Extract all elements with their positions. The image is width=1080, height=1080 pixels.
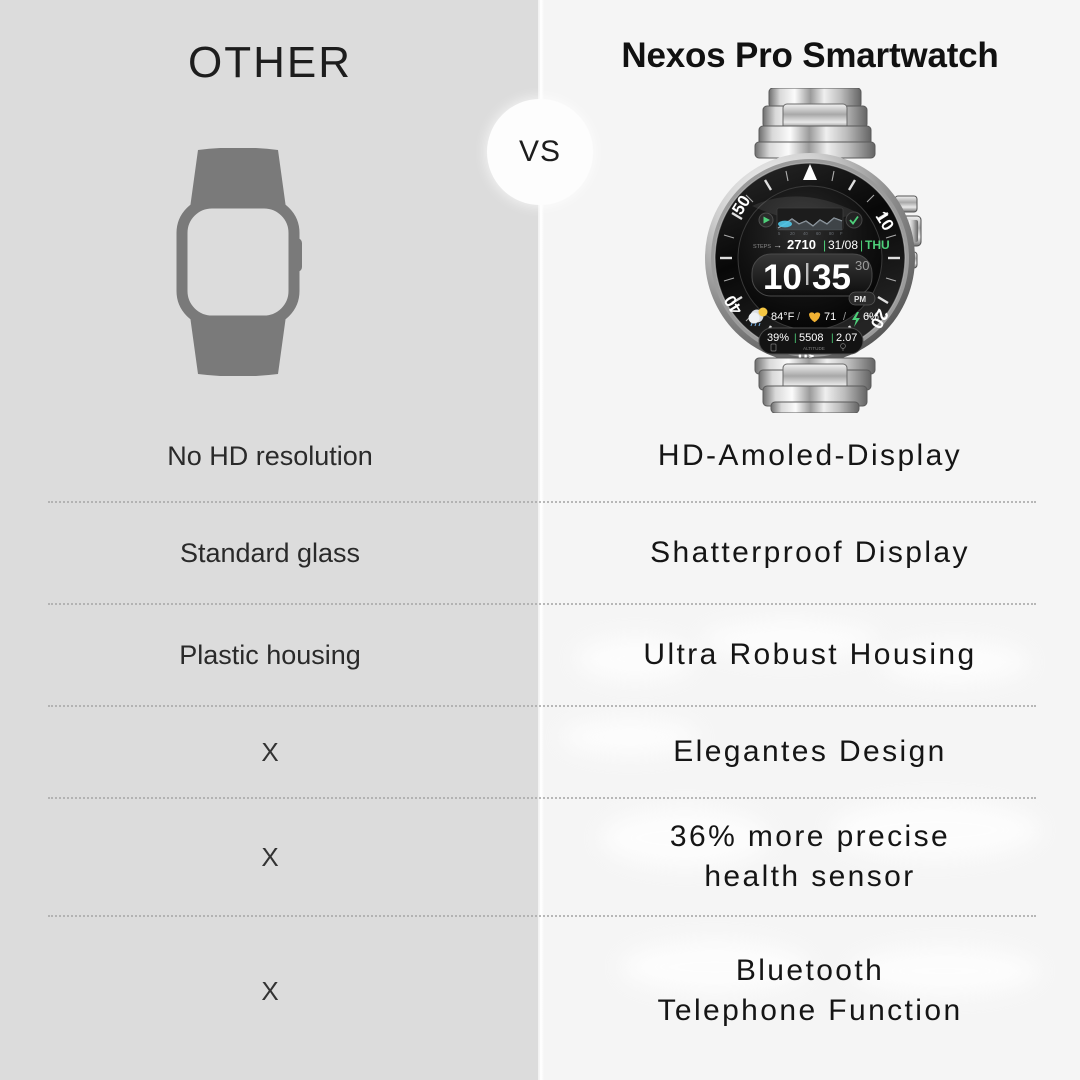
svg-text:60: 60	[816, 231, 821, 236]
svg-text:|: |	[860, 238, 863, 252]
table-row: X 36% more precise health sensor	[0, 798, 1080, 916]
distance-value: 2.07	[836, 332, 857, 344]
svg-text:40: 40	[803, 231, 808, 236]
generic-watch-icon	[160, 148, 320, 376]
row-0-other: No HD resolution	[0, 441, 540, 472]
row-2-nexos: Ultra Robust Housing	[540, 635, 1080, 675]
row-5-line-2: Telephone Function	[657, 994, 962, 1027]
row-3-other: X	[0, 737, 540, 768]
page-title-other: OTHER	[0, 38, 540, 88]
svg-text:84°F: 84°F	[771, 311, 795, 323]
altitude-label: ALTITUDE	[803, 346, 825, 351]
altitude-value: 5508	[799, 332, 823, 344]
row-5-nexos: Bluetooth Telephone Function	[540, 951, 1080, 1030]
row-4-nexos: 36% more precise health sensor	[540, 817, 1080, 896]
svg-text:|: |	[794, 333, 797, 344]
humidity-value: 39%	[767, 332, 789, 344]
svg-text:2710: 2710	[787, 237, 816, 252]
svg-text:PM: PM	[854, 295, 866, 304]
svg-text:20: 20	[790, 231, 795, 236]
generic-smartwatch-silhouette	[160, 148, 320, 376]
nexos-watch-illustration: 50 10 20 30 40	[697, 88, 933, 413]
svg-text:6%: 6%	[863, 311, 879, 323]
watch-seconds: 30	[855, 258, 869, 273]
nexos-pro-watch-image: 50 10 20 30 40	[697, 88, 933, 413]
check-circle-icon	[846, 212, 862, 228]
watch-minutes: 35	[812, 258, 851, 297]
row-2-other: Plastic housing	[0, 640, 540, 671]
row-0-nexos: HD-Amoled-Display	[540, 436, 1080, 476]
row-4-line-2: health sensor	[704, 860, 915, 893]
svg-text:31/08: 31/08	[828, 238, 858, 252]
row-5-line-1: Bluetooth	[736, 954, 884, 987]
row-3-nexos: Elegantes Design	[540, 732, 1080, 772]
table-row: X Elegantes Design	[0, 706, 1080, 798]
svg-text:THU: THU	[865, 238, 890, 252]
table-row: Standard glass Shatterproof Display	[0, 502, 1080, 604]
vs-label: VS	[519, 135, 561, 169]
svg-text:80: 80	[829, 231, 834, 236]
table-row: Plastic housing Ultra Robust Housing	[0, 604, 1080, 706]
row-4-line-1: 36% more precise	[670, 820, 950, 853]
row-4-other: X	[0, 842, 540, 873]
comparison-infographic: OTHER Nexos Pro Smartwatch VS	[0, 0, 1080, 1080]
svg-text:STEPS: STEPS	[753, 244, 771, 250]
row-1-nexos: Shatterproof Display	[540, 533, 1080, 573]
svg-text:71: 71	[824, 311, 836, 323]
row-5-other: X	[0, 976, 540, 1007]
svg-text:F: F	[840, 231, 843, 236]
table-row: X Bluetooth Telephone Function	[0, 916, 1080, 1066]
svg-text:|: |	[823, 238, 826, 252]
comparison-table: No HD resolution HD-Amoled-Display Stand…	[0, 410, 1080, 1080]
page-title-nexos: Nexos Pro Smartwatch	[540, 36, 1080, 76]
svg-text:→: →	[773, 240, 782, 250]
watch-hours: 10	[763, 258, 802, 297]
watch-bracelet-bottom	[755, 358, 875, 413]
graph-marker	[778, 221, 792, 228]
svg-text:|: |	[831, 333, 834, 344]
watch-bracelet-top	[755, 88, 875, 158]
vs-badge: VS	[487, 99, 593, 205]
row-1-other: Standard glass	[0, 538, 540, 569]
table-row: No HD resolution HD-Amoled-Display	[0, 410, 1080, 502]
